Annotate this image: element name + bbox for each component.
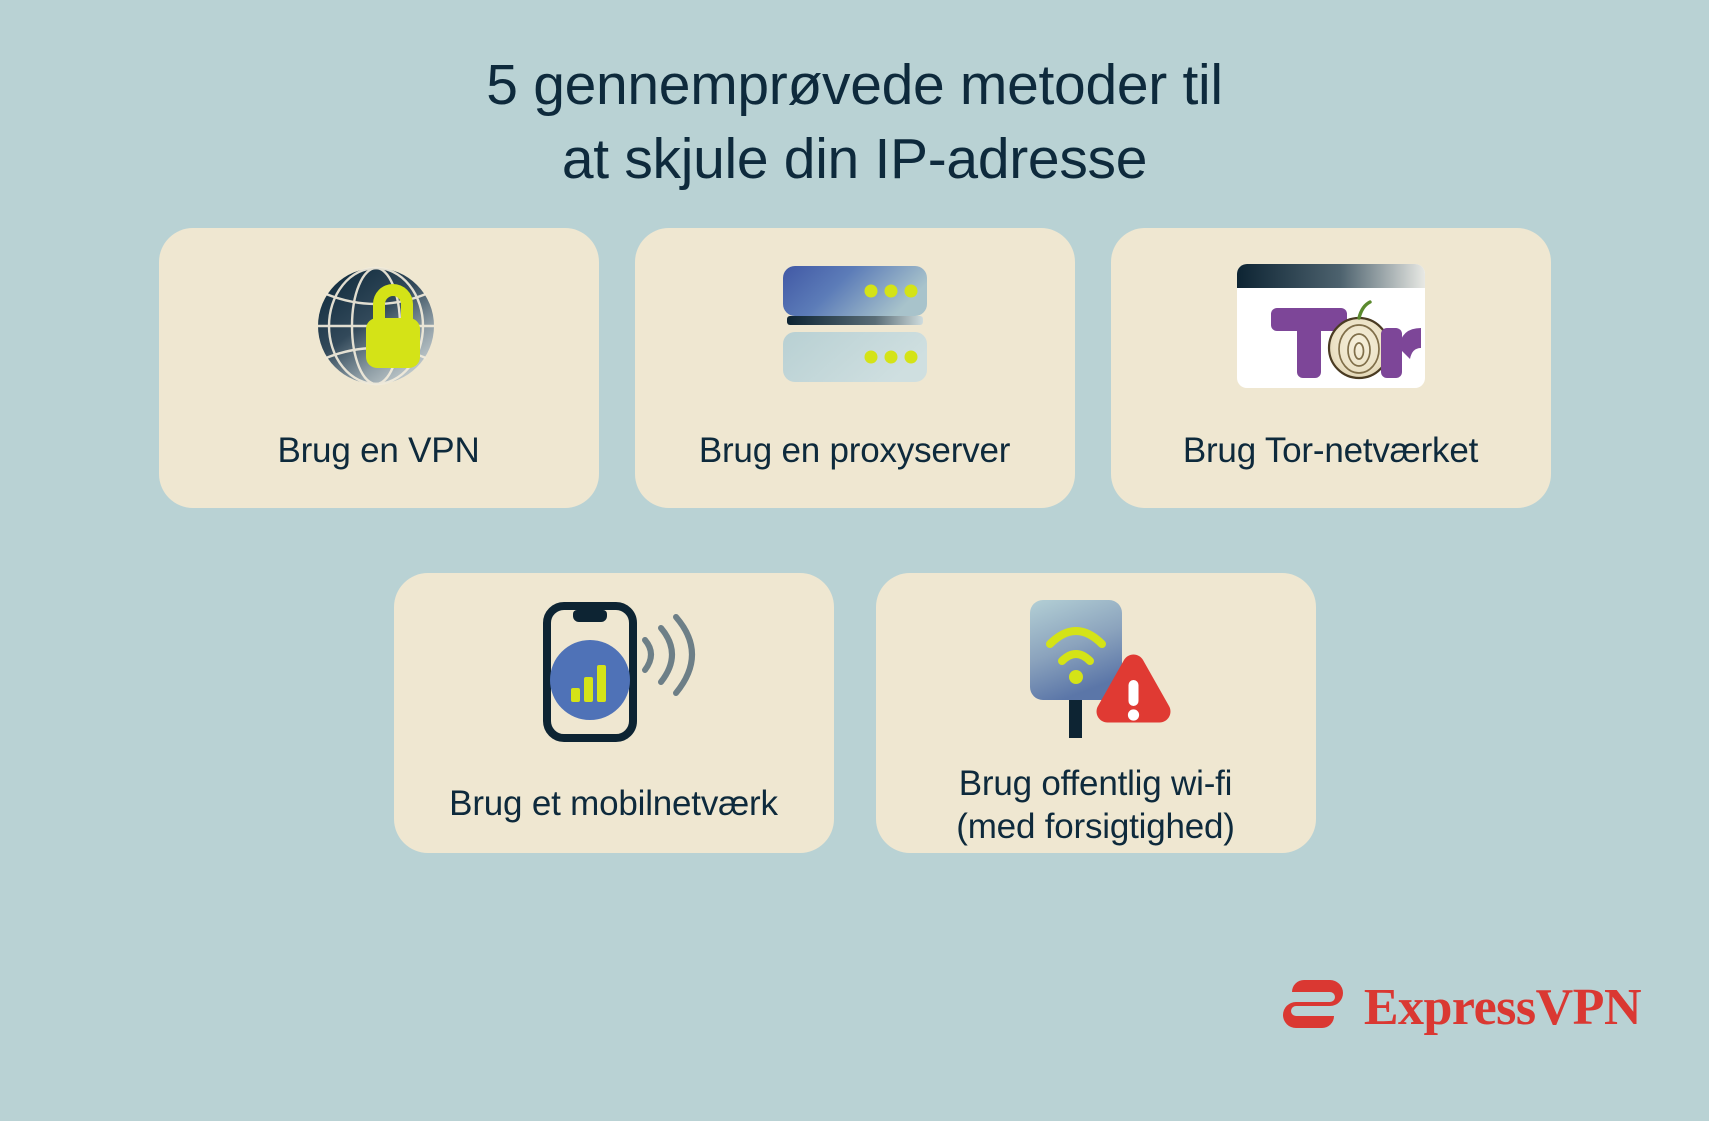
- method-row-top: Brug en VPN: [0, 228, 1709, 508]
- method-card-label: Brug offentlig wi-fi (med forsigtighed): [956, 763, 1234, 848]
- method-card-label: Brug et mobilnetværk: [449, 783, 778, 826]
- smartphone-signal-icon: [529, 597, 699, 737]
- method-card-label-line-2: (med forsigtighed): [956, 806, 1234, 849]
- method-card-proxy[interactable]: Brug en proxyserver: [635, 228, 1075, 508]
- globe-lock-icon: [304, 256, 454, 396]
- method-card-label: Brug en VPN: [277, 430, 479, 473]
- method-row-bottom: Brug et mobilnetværk: [0, 573, 1709, 853]
- brand-wordmark: ExpressVPN: [1364, 982, 1641, 1034]
- title-line-2: at skjule din IP-adresse: [0, 122, 1709, 196]
- infographic-root: 5 gennemprøvede metoder til at skjule di…: [0, 0, 1709, 1121]
- method-card-vpn[interactable]: Brug en VPN: [159, 228, 599, 508]
- method-card-public-wifi[interactable]: Brug offentlig wi-fi (med forsigtighed): [876, 573, 1316, 853]
- server-stack-icon: [775, 256, 935, 396]
- tor-browser-icon: [1231, 256, 1431, 396]
- expressvpn-brand-logo[interactable]: ExpressVPN: [1282, 976, 1641, 1039]
- title-line-1: 5 gennemprøvede metoder til: [0, 48, 1709, 122]
- method-card-label-line-1: Brug offentlig wi-fi: [956, 763, 1234, 806]
- page-title: 5 gennemprøvede metoder til at skjule di…: [0, 48, 1709, 196]
- method-card-label: Brug Tor-netværket: [1183, 430, 1478, 473]
- wifi-warning-icon: [1016, 597, 1176, 737]
- method-card-tor[interactable]: Brug Tor-netværket: [1111, 228, 1551, 508]
- method-card-label: Brug en proxyserver: [699, 430, 1010, 473]
- expressvpn-e-icon: [1282, 976, 1348, 1039]
- method-card-mobile[interactable]: Brug et mobilnetværk: [394, 573, 834, 853]
